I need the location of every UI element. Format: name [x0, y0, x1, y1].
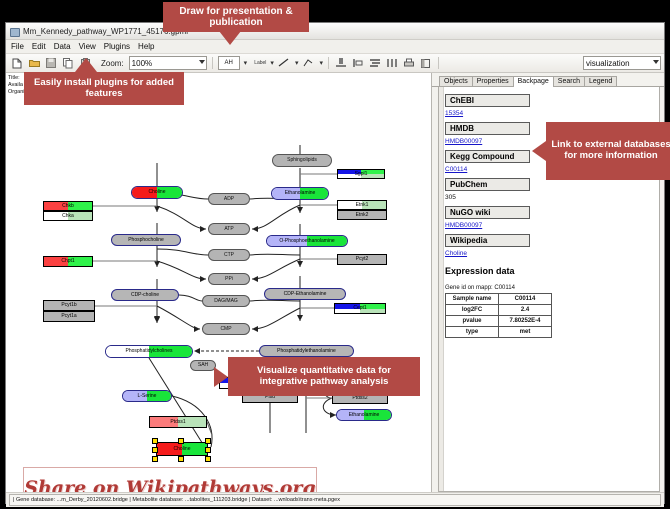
- node-choline[interactable]: Choline: [131, 186, 183, 199]
- node-cmp[interactable]: CMP: [202, 323, 250, 335]
- tab-backpage[interactable]: Backpage: [513, 76, 554, 87]
- node-ctp[interactable]: CTP: [208, 249, 250, 261]
- sidebar-tabs: Objects Properties Backpage Search Legen…: [432, 73, 664, 87]
- toolbar: Zoom: 100% AH ▾ Label ▾ ▾ ▾: [6, 54, 664, 73]
- pathway-canvas[interactable]: Title: Availa Organi: [6, 73, 432, 492]
- selection-handle-w[interactable]: [152, 447, 158, 453]
- selection-handle-se[interactable]: [205, 456, 211, 462]
- menu-bar: File Edit Data View Plugins Help: [6, 40, 664, 54]
- gene-ptdss1[interactable]: Ptdss1: [149, 416, 207, 428]
- db-header-kegg-compound: Kegg Compound: [445, 150, 530, 163]
- node-phosphatidylcholines[interactable]: Phosphatidylcholines: [105, 345, 193, 358]
- gene-chkb[interactable]: Chkb: [43, 201, 93, 211]
- sidebar-scrollbar[interactable]: [439, 87, 444, 491]
- zoom-value: 100%: [132, 59, 152, 68]
- node-ppi[interactable]: PPi: [208, 273, 250, 285]
- expr-val-log2fc: 2.4: [499, 305, 552, 316]
- save-icon[interactable]: [44, 56, 58, 70]
- menu-item-help[interactable]: Help: [138, 42, 154, 51]
- menu-item-plugins[interactable]: Plugins: [104, 42, 130, 51]
- title-bar: Mm_Kennedy_pathway_WP1771_45176.gpml: [6, 23, 664, 40]
- table-row: type met: [446, 327, 552, 338]
- db-value-pubchem: 305: [445, 194, 657, 201]
- new-file-icon[interactable]: [10, 56, 24, 70]
- visualization-value: visualization: [586, 59, 630, 68]
- expr-key-log2fc: log2FC: [446, 305, 499, 316]
- selection-handle-nw[interactable]: [152, 438, 158, 444]
- gene-cept1[interactable]: Cept1: [334, 303, 386, 314]
- arrow-tool-icon[interactable]: [301, 56, 315, 70]
- node-ethanolamine-lower[interactable]: Ethanolamine: [336, 409, 392, 421]
- selection-handle-e[interactable]: [205, 447, 211, 453]
- gene-etnk1[interactable]: Etnk1: [337, 200, 387, 210]
- gene-pcyt2[interactable]: Pcyt2: [337, 254, 387, 265]
- toolbar-divider: [212, 57, 213, 69]
- node-phosphocholine[interactable]: Phosphocholine: [111, 234, 181, 246]
- node-o-phosphoethanolamine[interactable]: O-Phosphoethanolamine: [266, 235, 348, 247]
- callout-draw-arrow-icon: [219, 31, 241, 45]
- gene-sgpl1[interactable]: Sgpl1: [337, 169, 385, 179]
- gene-chka[interactable]: Chka: [43, 211, 93, 221]
- db-link-chebi[interactable]: 15354: [445, 110, 657, 117]
- menu-item-view[interactable]: View: [79, 42, 96, 51]
- distribute-icon[interactable]: [385, 56, 399, 70]
- callout-share: Share on Wikipathways.org: [23, 467, 317, 492]
- chevron-down-icon[interactable]: ▾: [295, 59, 299, 67]
- node-adp[interactable]: ADP: [208, 193, 250, 205]
- zoom-label: Zoom:: [101, 59, 124, 68]
- gene-id-on-mapp: Gene id on mapp: C00114: [445, 285, 657, 291]
- node-ethanolamine[interactable]: Ethanolamine: [271, 187, 329, 200]
- chevron-down-icon[interactable]: ▾: [244, 59, 248, 67]
- chevron-down-icon: [199, 60, 205, 64]
- callout-visualize-data: Visualize quantitative data for integrat…: [228, 357, 420, 396]
- gene-pcyt1b[interactable]: Pcyt1b: [43, 300, 95, 311]
- open-folder-icon[interactable]: [27, 56, 41, 70]
- align-left-icon[interactable]: [351, 56, 365, 70]
- expr-key-type: type: [446, 327, 499, 338]
- table-row: pvalue 7.80252E-4: [446, 316, 552, 327]
- text-tool-icon[interactable]: AH: [218, 56, 240, 70]
- chevron-down-icon[interactable]: ▾: [319, 59, 323, 67]
- selection-handle-n[interactable]: [178, 438, 184, 444]
- tab-properties[interactable]: Properties: [472, 76, 514, 86]
- node-atp[interactable]: ATP: [208, 223, 250, 235]
- status-bar: | Gene database: ...m_Derby_20120602.bri…: [6, 492, 664, 507]
- menu-item-file[interactable]: File: [11, 42, 24, 51]
- db-header-chebi: ChEBI: [445, 94, 530, 107]
- db-link-wikipedia[interactable]: Choline: [445, 250, 657, 257]
- node-cdp-ethanolamine[interactable]: CDP-Ethanolamine: [264, 288, 346, 300]
- copy-icon[interactable]: [61, 56, 75, 70]
- align-bottom-icon[interactable]: [334, 56, 348, 70]
- node-sah[interactable]: SAH: [190, 360, 216, 371]
- expr-key-sample-name: Sample name: [446, 294, 499, 305]
- app-icon: [10, 27, 19, 36]
- node-phosphatidylethanolamine[interactable]: Phosphatidylethanolamine: [259, 345, 354, 357]
- callout-draw-for-publication: Draw for presentation & publication: [163, 2, 309, 32]
- tab-legend[interactable]: Legend: [584, 76, 617, 86]
- selection-handle-ne[interactable]: [205, 438, 211, 444]
- toolbar-divider: [328, 57, 329, 69]
- selection-handle-sw[interactable]: [152, 456, 158, 462]
- status-text: | Gene database: ...m_Derby_20120602.bri…: [9, 494, 661, 506]
- node-l-serine-left[interactable]: L-Serine: [122, 390, 172, 402]
- tab-objects[interactable]: Objects: [439, 76, 473, 86]
- align-stack-icon[interactable]: [368, 56, 382, 70]
- table-row: log2FC 2.4: [446, 305, 552, 316]
- gene-etnk2[interactable]: Etnk2: [337, 210, 387, 220]
- callout-visualize-arrow-icon: [214, 367, 228, 387]
- db-link-nugo-wiki[interactable]: HMDB00097: [445, 222, 657, 229]
- callout-plugins-arrow-icon: [75, 58, 97, 72]
- node-dag-mag[interactable]: DAG/MAG: [202, 295, 250, 307]
- callout-install-plugins: Easily install plugins for added feature…: [24, 72, 184, 105]
- callout-external-links: Link to external databases for more info…: [546, 122, 670, 180]
- expr-val-type: met: [499, 327, 552, 338]
- node-sphingolipids[interactable]: Sphingolipids: [272, 154, 332, 167]
- label-tool-label[interactable]: Label: [254, 60, 266, 66]
- gene-chpt1[interactable]: Chpt1: [43, 256, 93, 267]
- line-tool-icon[interactable]: [277, 56, 291, 70]
- table-row: Sample name C00114: [446, 294, 552, 305]
- zoom-combo[interactable]: 100%: [129, 56, 207, 70]
- chevron-down-icon: [653, 60, 659, 64]
- db-header-wikipedia: Wikipedia: [445, 234, 530, 247]
- toolbar-divider: [438, 57, 439, 69]
- expression-table: Sample name C00114 log2FC 2.4 pvalue 7.8…: [445, 293, 552, 338]
- menu-item-data[interactable]: Data: [54, 42, 71, 51]
- expr-val-pvalue: 7.80252E-4: [499, 316, 552, 327]
- gene-pcyt1a[interactable]: Pcyt1a: [43, 311, 95, 322]
- expr-key-pvalue: pvalue: [446, 316, 499, 327]
- expression-data-heading: Expression data: [445, 266, 657, 276]
- db-header-nugo-wiki: NuGO wiki: [445, 206, 530, 219]
- tab-search[interactable]: Search: [553, 76, 585, 86]
- expr-val-sample-name: C00114: [499, 294, 552, 305]
- selection-handle-s[interactable]: [178, 456, 184, 462]
- chevron-down-icon[interactable]: ▾: [270, 59, 274, 67]
- print-icon[interactable]: [402, 56, 416, 70]
- db-header-hmdb: HMDB: [445, 122, 530, 135]
- db-header-pubchem: PubChem: [445, 178, 530, 191]
- node-cdp-choline[interactable]: CDP-choline: [111, 289, 179, 301]
- menu-item-edit[interactable]: Edit: [32, 42, 46, 51]
- visualization-combo[interactable]: visualization: [583, 56, 661, 70]
- callout-links-arrow-icon: [532, 141, 546, 161]
- layout-icon[interactable]: [419, 56, 433, 70]
- node-choline-selected[interactable]: Choline: [156, 442, 208, 456]
